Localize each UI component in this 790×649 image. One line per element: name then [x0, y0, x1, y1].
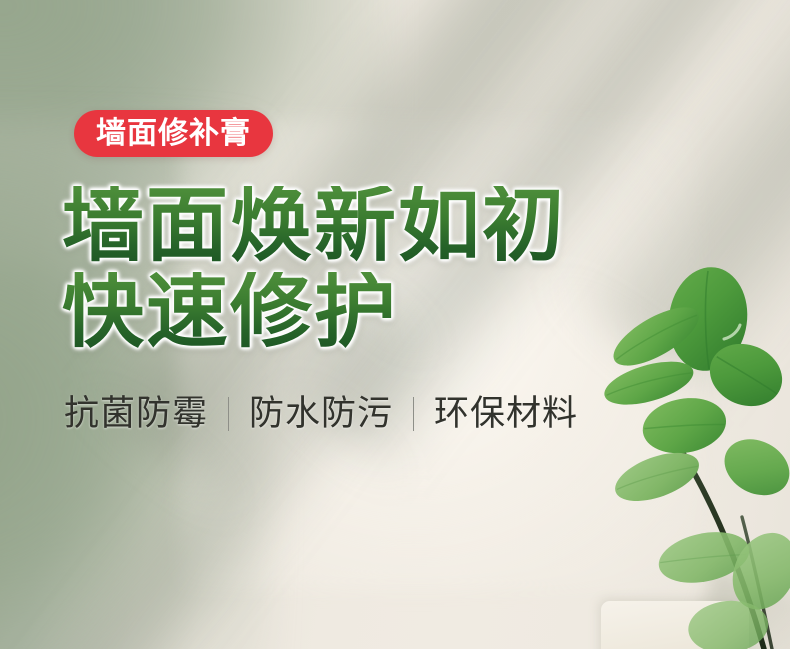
promo-banner: 墙面修补膏 墙面焕新如初 快速修护 抗菌防霉 防水防污 环保材料	[0, 0, 790, 649]
banner-content: 墙面修补膏 墙面焕新如初 快速修护 抗菌防霉 防水防污 环保材料	[0, 0, 790, 649]
feature-separator-1	[228, 397, 229, 431]
feature-item-2: 防水防污	[249, 393, 393, 435]
headline-line-1: 墙面焕新如初	[62, 186, 622, 266]
headline-line-2: 快速修护	[62, 272, 622, 352]
feature-item-3: 环保材料	[434, 393, 578, 435]
headline-block: 墙面焕新如初 快速修护	[62, 186, 622, 351]
product-badge: 墙面修补膏	[74, 110, 273, 157]
feature-item-1: 抗菌防霉	[64, 393, 208, 435]
feature-separator-2	[413, 397, 414, 431]
product-badge-label: 墙面修补膏	[96, 119, 251, 149]
feature-list: 抗菌防霉 防水防污 环保材料	[64, 393, 578, 435]
